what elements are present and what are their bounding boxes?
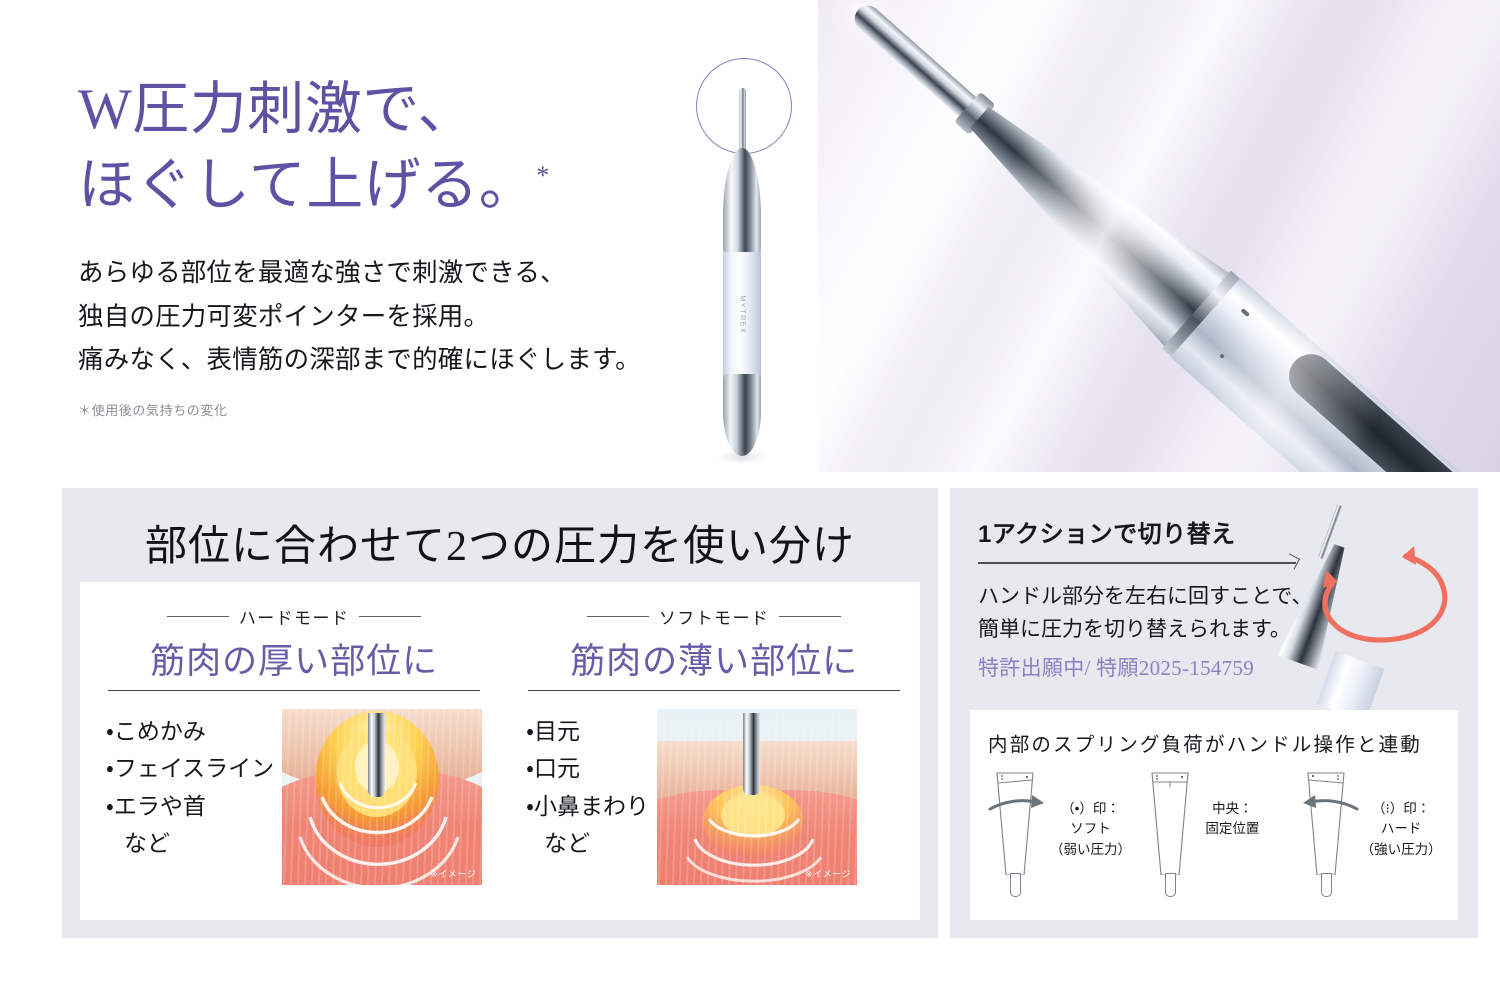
device-tip-icon bbox=[1010, 873, 1021, 897]
mode-tag-hard: ハードモード bbox=[106, 604, 482, 629]
spring-detail-soft: （弱い圧力） bbox=[1050, 840, 1131, 860]
one-action-description: ハンドル部分を左右に回すことで、 簡単に圧力を切り替えられます。 bbox=[978, 580, 1308, 646]
device-base-cap bbox=[723, 374, 761, 456]
rule-left-icon bbox=[587, 616, 649, 617]
mode-column-hard: ハードモード 筋肉の厚い部位に ・こめかみ ・フェイスライン ・エラや首 など bbox=[80, 582, 500, 920]
spring-name-hard: ハード bbox=[1361, 819, 1442, 839]
spring-label-soft: （•）印： ソフト （弱い圧力） bbox=[1050, 765, 1131, 860]
description-line-2: 簡単に圧力を切り替えられます。 bbox=[978, 613, 1308, 646]
image-note-hard: ※イメージ bbox=[430, 867, 476, 880]
skin-crosssection-soft: ※イメージ bbox=[657, 709, 857, 885]
image-note-soft: ※イメージ bbox=[805, 867, 851, 880]
hero-copy: W圧力刺激で、 ほぐして上げる。* あらゆる部位を最適な強さで刺激できる、 独自… bbox=[78, 72, 698, 419]
patent-note: 特許出願中/ 特願2025-154759 bbox=[978, 652, 1308, 682]
spring-mark-center: 中央： bbox=[1205, 799, 1259, 819]
spring-position-soft: （•）印： ソフト （弱い圧力） bbox=[984, 765, 1135, 897]
rotation-arrow-icon bbox=[1302, 522, 1470, 654]
one-action-header: 1アクションで切り替え ハンドル部分を左右に回すことで、 簡単に圧力を切り替えら… bbox=[978, 514, 1308, 682]
hero-section: W圧力刺激で、 ほぐして上げる。* あらゆる部位を最適な強さで刺激できる、 独自… bbox=[0, 0, 1500, 472]
mode-tag-hard-label: ハードモード bbox=[239, 604, 349, 629]
pressure-modes-panel: 部位に合わせて2つの圧力を使い分け ハードモード 筋肉の厚い部位に ・こめかみ bbox=[62, 488, 938, 938]
device-tip-icon bbox=[1165, 873, 1176, 897]
spring-positions-row: （•）印： ソフト （弱い圧力） bbox=[970, 757, 1458, 897]
list-item: ・エラや首 bbox=[106, 788, 274, 825]
product-feature-page: W圧力刺激で、 ほぐして上げる。* あらゆる部位を最適な強さで刺激できる、 独自… bbox=[0, 0, 1500, 1000]
rotate-left-arrow-icon bbox=[1297, 793, 1361, 815]
spring-mark-hard: （⁝）印： bbox=[1361, 799, 1442, 819]
list-item: ・こめかみ bbox=[106, 713, 274, 750]
spring-label-hard: （⁝）印： ハード （強い圧力） bbox=[1361, 765, 1442, 860]
description-line-1: ハンドル部分を左右に回すことで、 bbox=[978, 580, 1308, 613]
bullet-list-soft: ・目元 ・口元 ・小鼻まわり など bbox=[526, 709, 649, 885]
subcopy-line-1: あらゆる部位を最適な強さで刺激できる、 bbox=[78, 251, 698, 295]
headline-line-1: W圧力刺激で、 bbox=[78, 72, 698, 148]
spring-position-center: 中央： 固定位置 bbox=[1139, 765, 1290, 897]
device-upper-cone bbox=[723, 148, 761, 258]
spring-figure-hard bbox=[1295, 765, 1357, 897]
spring-detail-hard: （強い圧力） bbox=[1361, 840, 1442, 860]
device-shadow bbox=[718, 450, 766, 464]
spring-figure-soft bbox=[984, 765, 1046, 897]
list-item-suffix: など bbox=[106, 825, 274, 862]
list-item: ・フェイスライン bbox=[106, 750, 274, 787]
spring-mechanism-card: 内部のスプリング負荷がハンドル操作と連動 bbox=[970, 710, 1458, 920]
device-outline-icon bbox=[1151, 771, 1189, 875]
hero-footnote: ＊使用後の気持ちの変化 bbox=[78, 400, 698, 419]
device-standing-illustration: MYTREX bbox=[688, 52, 808, 452]
spring-figure-center bbox=[1139, 765, 1201, 897]
list-item-suffix: など bbox=[526, 825, 649, 862]
mode-tag-soft: ソフトモード bbox=[526, 604, 902, 629]
page-title: W圧力刺激で、 ほぐして上げる。* bbox=[78, 72, 698, 225]
pressure-modes-title: 部位に合わせて2つの圧力を使い分け bbox=[62, 488, 938, 573]
modes-card: ハードモード 筋肉の厚い部位に ・こめかみ ・フェイスライン ・エラや首 など bbox=[80, 582, 920, 920]
device-tip-icon bbox=[1321, 873, 1332, 897]
spring-label-center: 中央： 固定位置 bbox=[1205, 765, 1259, 840]
spring-position-hard: （⁝）印： ハード （強い圧力） bbox=[1295, 765, 1446, 897]
rule-left-icon bbox=[167, 616, 229, 617]
feature-panels: 部位に合わせて2つの圧力を使い分け ハードモード 筋肉の厚い部位に ・こめかみ bbox=[0, 488, 1500, 942]
subcopy-line-2: 独自の圧力可変ポインターを採用。 bbox=[78, 295, 698, 339]
mode-column-soft: ソフトモード 筋肉の薄い部位に ・目元 ・口元 ・小鼻まわり など bbox=[500, 582, 920, 920]
rotate-right-arrow-icon bbox=[986, 793, 1050, 815]
one-action-title: 1アクションで切り替え bbox=[978, 514, 1308, 549]
skin-crosssection-hard: ※イメージ bbox=[282, 709, 482, 885]
mode-body-hard: ・こめかみ ・フェイスライン ・エラや首 など bbox=[106, 709, 482, 885]
arrow-rule-icon bbox=[978, 558, 1300, 568]
spring-name-soft: ソフト bbox=[1050, 819, 1131, 839]
headline-line-2: ほぐして上げる。* bbox=[78, 148, 698, 224]
device-brand-label: MYTREX bbox=[739, 296, 746, 332]
mode-heading-soft: 筋肉の薄い部位に bbox=[526, 633, 902, 684]
one-action-switch-panel: 1アクションで切り替え ハンドル部分を左右に回すことで、 簡単に圧力を切り替えら… bbox=[950, 488, 1478, 938]
list-item: ・小鼻まわり bbox=[526, 788, 649, 825]
spring-card-title: 内部のスプリング負荷がハンドル操作と連動 bbox=[970, 710, 1458, 757]
asterisk-marker: * bbox=[536, 161, 550, 190]
list-item: ・口元 bbox=[526, 750, 649, 787]
device-outline-icon bbox=[996, 771, 1034, 875]
rotating-pen-illustration bbox=[1302, 500, 1470, 700]
probe-tip-hard bbox=[368, 713, 385, 797]
spring-name-center: 固定位置 bbox=[1205, 819, 1259, 839]
device-outline-icon bbox=[1307, 771, 1345, 875]
probe-tip-soft bbox=[743, 713, 760, 795]
mode-body-soft: ・目元 ・口元 ・小鼻まわり など bbox=[526, 709, 902, 885]
rule-right-icon bbox=[359, 616, 421, 617]
bullet-list-hard: ・こめかみ ・フェイスライン ・エラや首 など bbox=[106, 709, 274, 885]
device-needle-tip bbox=[739, 88, 746, 154]
mode-underline-hard bbox=[108, 690, 480, 691]
hero-subcopy: あらゆる部位を最適な強さで刺激できる、 独自の圧力可変ポインターを採用。 痛みな… bbox=[78, 251, 698, 383]
mode-heading-hard: 筋肉の厚い部位に bbox=[106, 633, 482, 684]
list-item: ・目元 bbox=[526, 713, 649, 750]
mode-underline-soft bbox=[528, 690, 900, 691]
spring-mark-soft: （•）印： bbox=[1050, 799, 1131, 819]
photo-light-sheen bbox=[818, 0, 1500, 472]
mode-tag-soft-label: ソフトモード bbox=[659, 604, 769, 629]
subcopy-line-3: 痛みなく、表情筋の深部まで的確にほぐします。 bbox=[78, 338, 698, 382]
rule-right-icon bbox=[779, 616, 841, 617]
hero-product-photo bbox=[818, 0, 1500, 472]
